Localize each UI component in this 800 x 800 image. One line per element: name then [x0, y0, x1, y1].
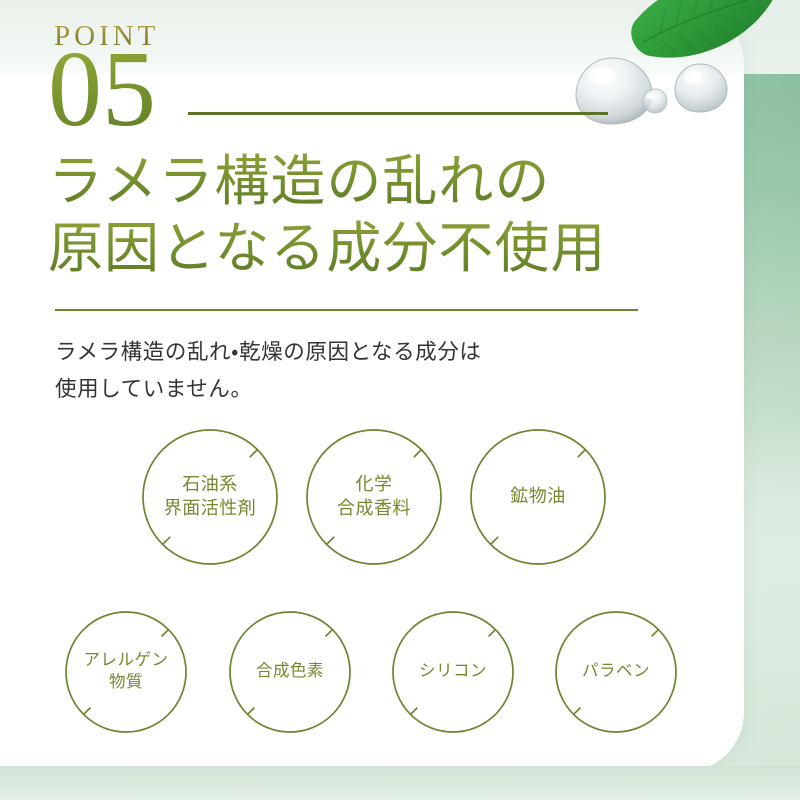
- ingredient-badge-label: パラベン: [552, 608, 680, 736]
- ingredient-badge-label: 合成色素: [226, 608, 354, 736]
- ingredient-badge: シリコン: [389, 608, 517, 736]
- ingredient-badge: 化学合成香料: [303, 426, 445, 568]
- promo-graphic: POINT 05 ラメラ構造の乱れの 原因となる成分不使用 ラメラ構造の乱れ・乾…: [0, 0, 800, 800]
- ingredient-badge: アレルゲン物質: [62, 608, 190, 736]
- ingredient-badge-line: パラベン: [582, 661, 650, 683]
- ingredient-badge-line: 界面活性剤: [164, 497, 257, 521]
- ingredient-badge: 合成色素: [226, 608, 354, 736]
- ingredient-badge-label: 化学合成香料: [303, 426, 445, 568]
- ingredient-badge-label: 石油系界面活性剤: [139, 426, 281, 568]
- ingredient-badge-label: シリコン: [389, 608, 517, 736]
- ingredient-badge-label: 鉱物油: [467, 426, 609, 568]
- ingredient-badge-label: アレルゲン物質: [62, 608, 190, 736]
- ingredient-badge-line: シリコン: [419, 661, 487, 683]
- ingredient-badge: 鉱物油: [467, 426, 609, 568]
- ingredient-badge: 石油系界面活性剤: [139, 426, 281, 568]
- ingredient-badge-line: 化学: [356, 473, 393, 497]
- ingredient-badge-line: 合成色素: [256, 661, 324, 683]
- excluded-ingredients-badges: 石油系界面活性剤化学合成香料鉱物油アレルゲン物質合成色素シリコンパラベン: [0, 0, 800, 800]
- bottom-green-band: [0, 766, 800, 800]
- ingredient-badge-line: 物質: [109, 672, 143, 694]
- ingredient-badge-line: 合成香料: [337, 497, 411, 521]
- ingredient-badge: パラベン: [552, 608, 680, 736]
- ingredient-badge-line: 石油系: [182, 473, 238, 497]
- ingredient-badge-line: アレルゲン: [84, 650, 169, 672]
- ingredient-badge-line: 鉱物油: [510, 485, 566, 509]
